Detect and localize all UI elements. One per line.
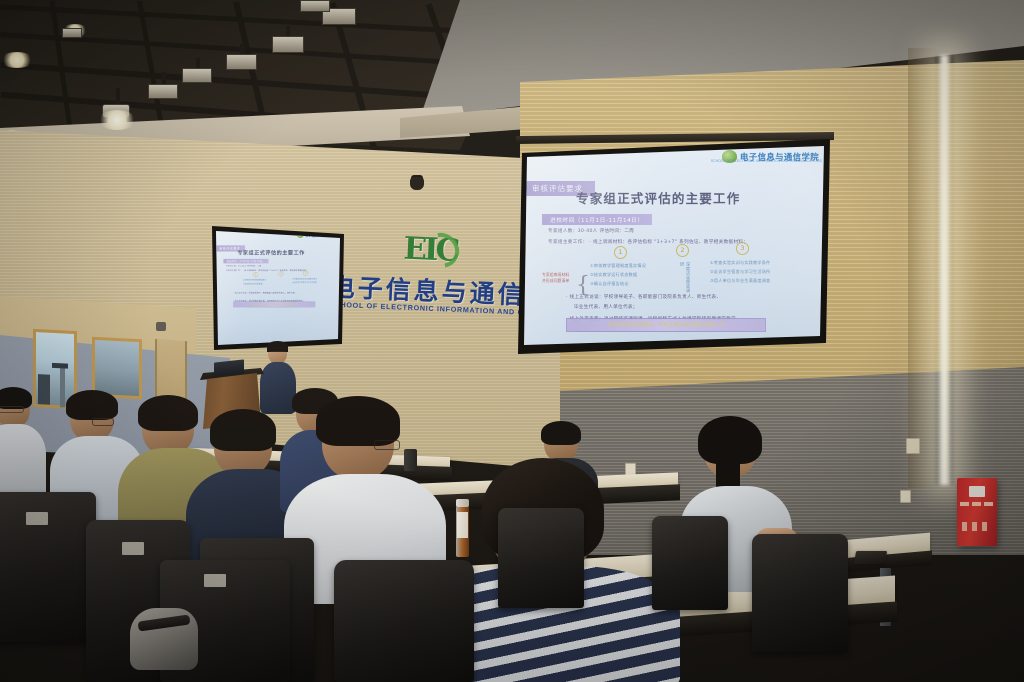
slide-org-name-en: SCHOOL OF ELECTRONIC INFORMATION AND COM…: [711, 159, 822, 163]
side-slide-content: 电子信息与通信学院 审核评估要求 专家组正式评估的主要工作 进校时间（11月1日…: [216, 231, 339, 313]
office-chair[interactable]: [652, 516, 728, 610]
slide-title: 专家组正式评估的主要工作: [576, 188, 806, 207]
wall-outlet-icon: [906, 438, 920, 454]
side-step-number: 3: [303, 270, 308, 275]
slide-step3-line3: ③用人单位与毕业生满意度调查: [710, 278, 770, 285]
slide-meta-line-1: 专家组人数：30-40人 评估时间：二周: [548, 228, 634, 234]
audience-hair: [316, 396, 400, 446]
audience-glasses-icon: [374, 440, 400, 450]
track-light-icon: [226, 54, 257, 70]
chair-tag: [204, 574, 226, 587]
track-light-icon: [182, 68, 212, 83]
slide-step-number: 2: [676, 244, 689, 257]
audience-glasses-icon: [0, 406, 24, 413]
office-chair[interactable]: [498, 508, 584, 608]
slide-step3-line1: ①考查实验实训与实践教学条件: [710, 260, 770, 267]
fire-cabinet-text-2: [962, 522, 992, 531]
side-slide-meta-2: 专家组主要工作： · 线上调阅材料：各评估指标 "1+3+7" 系列佐证、教学相…: [226, 269, 308, 271]
office-chair[interactable]: [334, 560, 474, 682]
lecture-hall-photo: EIC 电子信息与通信学院 SCHOOL OF ELECTRONIC INFOR…: [0, 0, 1024, 682]
side-bullet-1: · 线上正式访谈：学校领导班子、各职能部门及院系负责人、师生代表、: [233, 292, 297, 294]
office-chair[interactable]: [752, 534, 848, 652]
bottle-cap: [456, 499, 469, 507]
slide-step2-line1: 深度访谈座谈调研: [679, 262, 691, 296]
tea-bottle[interactable]: [456, 505, 469, 557]
ceiling-downlight-icon: [98, 110, 136, 130]
audience-member: [0, 390, 46, 500]
audience-hair: [698, 416, 762, 464]
slide-time-band: 进校时间（11月1日-11月14日）: [542, 214, 652, 225]
vertical-light-strip: [936, 55, 953, 485]
fire-cabinet-text: [960, 502, 994, 506]
slide-step1-line2: ②核实教学运行状态数据: [590, 272, 637, 279]
slide-bullet-1: · 线上正式访谈：学校领导班子、各职能部门及院系负责人、师生代表、: [566, 294, 721, 300]
main-projection-screen: 电子信息与通信学院 SCHOOL OF ELECTRONIC INFORMATI…: [524, 146, 824, 346]
slide-step-number: 1: [614, 246, 627, 259]
side-step1-line2: ②核实教学运行状态数据: [243, 283, 262, 286]
slide-content: 电子信息与通信学院 SCHOOL OF ELECTRONIC INFORMATI…: [524, 146, 824, 346]
bag-strap: [138, 614, 191, 631]
track-light-icon: [272, 36, 304, 53]
slide-bullet-2: 毕业生代表、用人单位代表；: [574, 304, 638, 310]
audience-hair: [66, 390, 118, 420]
fire-cabinet-label: [969, 486, 985, 497]
chair-tag: [122, 542, 144, 555]
audience-torso: [0, 424, 46, 500]
track-light-icon: [148, 84, 178, 99]
slide-brace-label-2: 并形成问题清单: [542, 278, 569, 284]
side-slide-meta-1: 专家组人数：30-40人 评估时间：二周: [226, 265, 261, 267]
side-slide-title: 专家组正式评估的主要工作: [237, 248, 331, 256]
desk-item: [52, 363, 68, 369]
bottle-label: [457, 512, 468, 538]
audience-hair: [210, 409, 276, 451]
fire-equipment-cabinet[interactable]: [957, 478, 997, 546]
wall-camera-icon: [410, 177, 424, 190]
slide-meta-line-2: 专家组主要工作： · 线上调阅材料：各评估指标 "1+3+7" 系列佐证、教学相…: [548, 239, 748, 245]
presenter-glasses-icon: [270, 351, 285, 354]
side-footer-banner: 专家组进校考察期间，学校应做好各项服务保障工作: [233, 302, 315, 308]
slide-step1-line1: ①审核教学管理制度落实情况: [590, 263, 646, 270]
wall-outlet-icon: [900, 490, 911, 503]
side-step-number: 1: [253, 272, 258, 277]
side-step3-line1: ①考查实验实训与实践教学条件: [292, 278, 317, 281]
office-chair[interactable]: [0, 492, 96, 642]
slide-footer-banner: 专家组进校考察期间，学校应做好各项服务保障工作: [566, 318, 766, 332]
shoulder-bag[interactable]: [130, 608, 198, 670]
ceiling-spot-icon: [0, 52, 34, 68]
track-light-icon: [62, 28, 82, 38]
audience-glasses-icon: [92, 418, 114, 426]
side-slide-time-band: 进校时间（11月1日-11月14日）: [223, 259, 268, 264]
slide-step-number: 3: [736, 242, 749, 255]
chair-tag: [26, 512, 48, 525]
side-projection-screen: 电子信息与通信学院 审核评估要求 专家组正式评估的主要工作 进校时间（11月1日…: [216, 231, 340, 345]
side-step-number: 2: [278, 271, 283, 276]
wall-speaker-icon: [156, 322, 166, 331]
audience-hair: [138, 395, 198, 431]
track-light-icon: [300, 0, 330, 12]
notebook-on-desk[interactable]: [854, 551, 887, 564]
side-step1-line1: ①审核教学管理制度落实情况: [243, 279, 266, 282]
eic-logo-icon: EIC: [403, 231, 469, 274]
slide-step3-line2: ②走访学生宿舍与学习生活场所: [710, 269, 770, 276]
audience-hair: [541, 421, 581, 445]
side-step3-line2: ②走访学生宿舍与学习生活场所: [292, 281, 317, 284]
slide-step1-line3: ③确认自评报告结论: [590, 281, 629, 288]
wall-school-sign: EIC 电子信息与通信学院 SCHOOL OF ELECTRONIC INFOR…: [328, 228, 542, 343]
